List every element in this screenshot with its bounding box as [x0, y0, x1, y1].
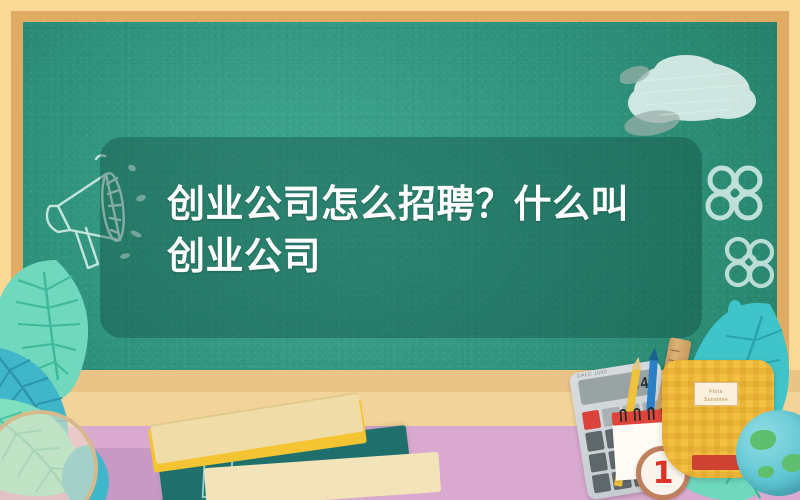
page-title: 创业公司怎么招聘？什么叫创业公司 [167, 178, 667, 282]
backpack-strap [692, 455, 742, 470]
calculator-key [588, 452, 608, 473]
backpack-label-line1: Flora [695, 388, 737, 396]
calculator-key [585, 431, 605, 452]
backpack-label-line2: Sunshine [695, 396, 737, 404]
cover-image-canvas: 创业公司怎么招聘？什么叫创业公司 [0, 0, 800, 500]
calculator-key [582, 410, 602, 431]
flower-chalk-drawing-b [718, 232, 780, 294]
backpack-label: Flora Sunshine [694, 382, 738, 406]
flower-chalk-drawing-a [700, 160, 770, 230]
calculator-key [592, 473, 612, 494]
